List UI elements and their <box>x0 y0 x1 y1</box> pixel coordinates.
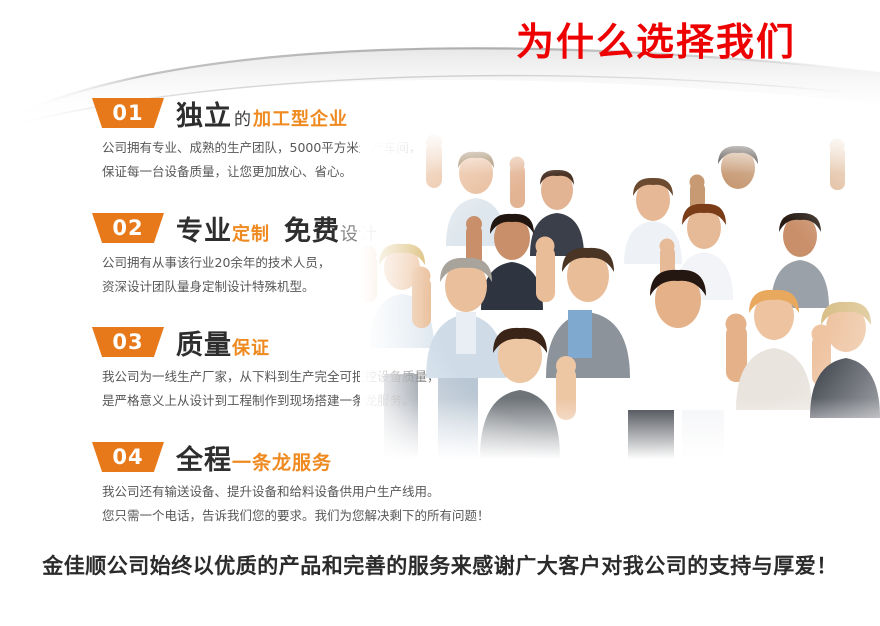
feature-line: 公司拥有从事该行业20余年的技术人员， <box>102 255 378 272</box>
title-part-particle: 的 <box>234 105 251 130</box>
title-part-accent: 保证 <box>232 334 270 360</box>
footer-tagline: 金佳顺公司始终以优质的产品和完善的服务来感谢广大客户对我公司的支持与厚爱！ <box>0 550 880 580</box>
title-part-accent: 定制 <box>232 220 270 246</box>
title-part-primary: 专业 <box>176 209 232 248</box>
promo-banner: 为什么选择我们 <box>0 0 880 626</box>
feature-description: 公司拥有从事该行业20余年的技术人员， 资深设计团队量身定制设计特殊机型。 <box>102 255 378 296</box>
title-part-primary: 全程 <box>176 438 232 477</box>
feature-header: 02 专业 定制 免费 设计 <box>92 211 378 245</box>
feature-number-badge: 02 <box>92 213 164 243</box>
feature-title: 质量 保证 <box>176 323 270 362</box>
feature-title: 专业 定制 免费 设计 <box>176 209 378 248</box>
feature-line: 您只需一个电话，告诉我们您的要求。我们为您解决剩下的所有问题！ <box>102 508 490 525</box>
title-part-accent: 一条龙服务 <box>232 448 332 475</box>
feature-block-02: 02 专业 定制 免费 设计 公司拥有从事该行业20余年的技术人员， 资深设计团… <box>92 211 378 303</box>
feature-description: 我公司还有输送设备、提升设备和给料设备供用户生产线用。 您只需一个电话，告诉我们… <box>102 484 490 525</box>
title-part-accent: 加工型企业 <box>253 105 348 131</box>
title-part-primary: 质量 <box>176 323 232 362</box>
feature-number-badge: 01 <box>92 98 164 128</box>
feature-line: 我公司还有输送设备、提升设备和给料设备供用户生产线用。 <box>102 484 490 501</box>
page-title: 为什么选择我们 <box>516 22 796 64</box>
title-part-primary: 独立 <box>176 94 232 133</box>
feature-number-badge: 03 <box>92 327 164 357</box>
hero-photo <box>360 128 880 468</box>
photo-fade-top <box>360 128 880 174</box>
feature-line: 资深设计团队量身定制设计特殊机型。 <box>102 279 378 296</box>
title-part-secondary: 免费 <box>284 209 340 248</box>
feature-number-badge: 04 <box>92 442 164 472</box>
feature-header: 01 独立 的 加工型企业 <box>92 96 421 130</box>
photo-fade-bottom <box>360 398 880 468</box>
feature-title: 全程 一条龙服务 <box>176 438 332 477</box>
feature-title: 独立 的 加工型企业 <box>176 94 348 133</box>
